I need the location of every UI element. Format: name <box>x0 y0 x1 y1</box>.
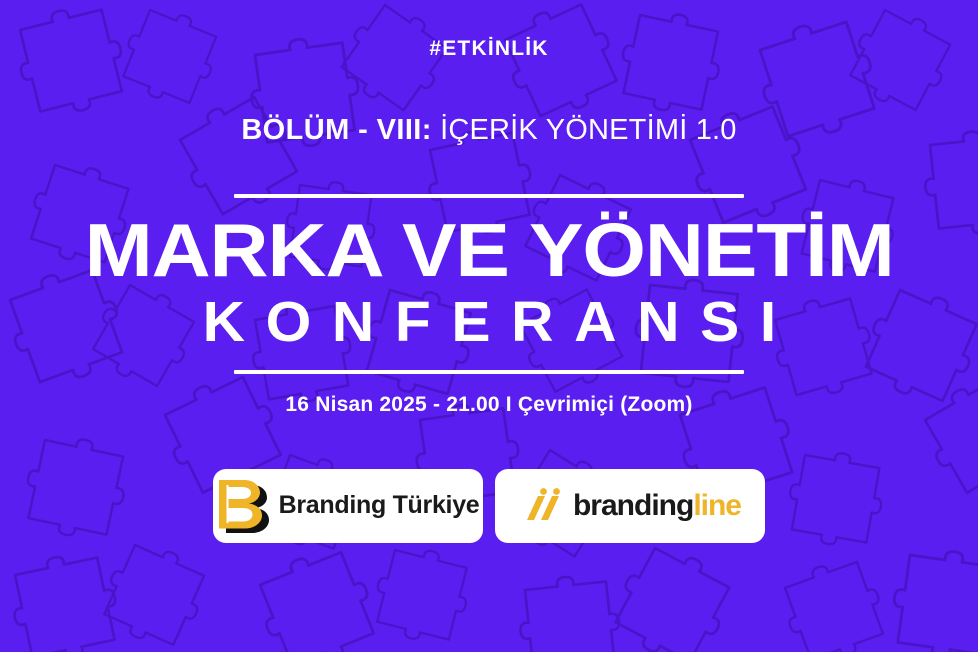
brandingline-wordmark-gold: line <box>693 489 741 522</box>
event-title-line-1: MARKA VE YÖNETİM <box>84 214 893 286</box>
divider-bottom <box>234 370 744 374</box>
hashtag-label: #ETKİNLİK <box>429 38 548 59</box>
branding-turkiye-b-mark <box>217 479 269 533</box>
branding-turkiye-wordmark: Branding Türkiye <box>279 493 480 518</box>
brandingline-slash-mark <box>519 486 563 526</box>
brandingline-wordmark: brandingline <box>573 491 741 521</box>
episode-line: BÖLÜM - VIII: İÇERİK YÖNETİMİ 1.0 <box>241 115 736 147</box>
divider-top <box>234 194 744 198</box>
logo-badge-branding-turkiye[interactable]: Branding Türkiye <box>213 469 483 543</box>
episode-number-label: BÖLÜM - VIII: <box>241 114 431 146</box>
title-block: MARKA VE YÖNETİM KONFERANSI <box>0 147 978 374</box>
event-promo-banner: #ETKİNLİK BÖLÜM - VIII: İÇERİK YÖNETİMİ … <box>0 0 978 652</box>
logo-badge-brandingline[interactable]: brandingline <box>495 469 765 543</box>
brandingline-wordmark-dark: branding <box>573 489 693 522</box>
event-datetime-location: 16 Nisan 2025 - 21.00 I Çevrimiçi (Zoom) <box>285 394 692 415</box>
sponsor-logo-row: Branding Türkiye brandingline <box>213 469 765 543</box>
banner-content: #ETKİNLİK BÖLÜM - VIII: İÇERİK YÖNETİMİ … <box>0 0 978 652</box>
event-title-line-2: KONFERANSI <box>182 294 797 351</box>
episode-topic-label: İÇERİK YÖNETİMİ 1.0 <box>432 114 737 146</box>
